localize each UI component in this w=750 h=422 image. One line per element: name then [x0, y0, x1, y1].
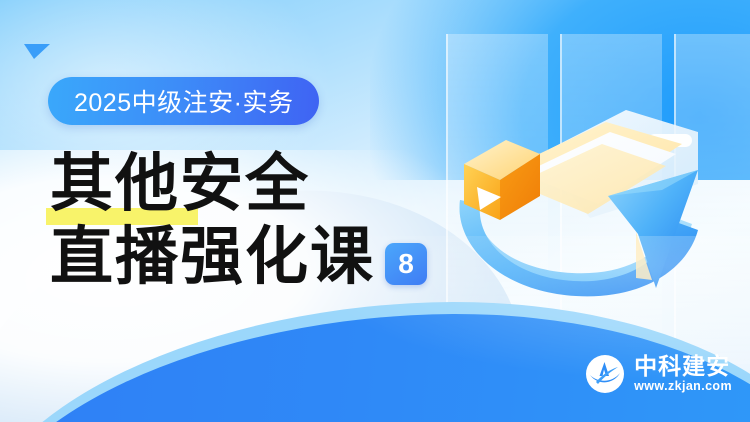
headline-line-1: 其他安全: [50, 149, 310, 219]
headline-line-2-wrapper: 直播强化课 8: [50, 220, 450, 294]
headline-line-1-wrapper: 其他安全: [50, 148, 450, 220]
course-category-badge: 2025中级注安·实务: [48, 77, 319, 125]
episode-number-badge: 8: [385, 243, 427, 285]
brand-logo-text: 中科建安 www.zkjan.com: [634, 355, 732, 393]
course-category-label: 2025中级注安·实务: [74, 83, 293, 119]
brand-logo: 中科建安 www.zkjan.com: [585, 354, 732, 394]
course-promo-banner: 2025中级注安·实务 其他安全 直播强化课 8 中科建安 www.zkjan.…: [0, 0, 750, 422]
illustration-artwork: [430, 92, 720, 322]
play-cube-icon: [464, 140, 540, 220]
zkjan-circle-logo-icon: [585, 354, 625, 394]
brand-name: 中科建安: [634, 355, 732, 378]
brand-url: www.zkjan.com: [634, 380, 732, 393]
badge-tail-icon: [24, 44, 50, 59]
headline-block: 其他安全 直播强化课 8: [50, 148, 450, 294]
headline-line-2: 直播强化课: [50, 221, 375, 293]
